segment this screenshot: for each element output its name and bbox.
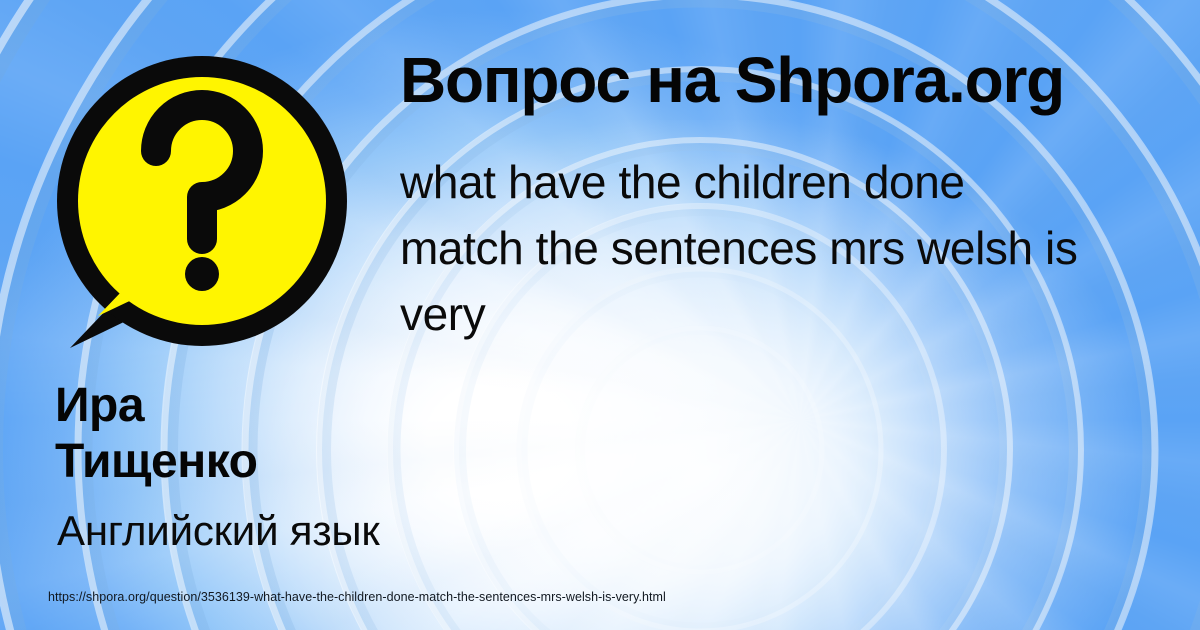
- question-line-2: match the sentences mrs welsh is: [400, 216, 1200, 282]
- question-line-3: very: [400, 282, 1200, 348]
- question-mark-dot: [185, 257, 219, 291]
- author-name: Ира Тищенко: [55, 378, 475, 490]
- social-share-card: Вопрос на Shpora.org what have the child…: [0, 0, 1200, 630]
- question-line-1: what have the children done: [400, 150, 1200, 216]
- question-text: what have the children done match the se…: [400, 150, 1200, 347]
- question-mark-bubble-svg: [50, 48, 355, 348]
- question-speech-bubble-icon: [50, 48, 355, 348]
- page-title: Вопрос на Shpora.org: [400, 48, 1200, 112]
- author-last-name: Тищенко: [55, 434, 475, 490]
- author-first-name: Ира: [55, 378, 475, 434]
- source-url: https://shpora.org/question/3536139-what…: [48, 590, 666, 604]
- subject-label: Английский язык: [57, 508, 380, 554]
